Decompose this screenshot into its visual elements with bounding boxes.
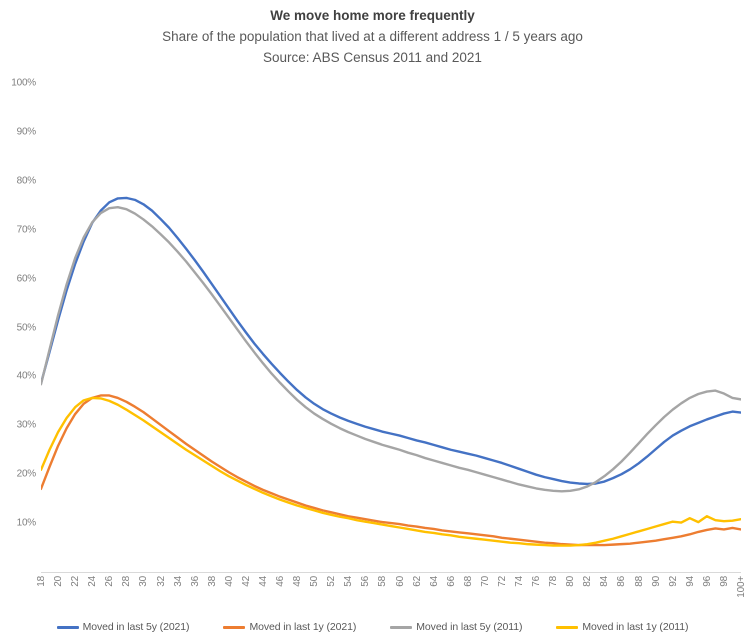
y-axis-tick: 70% xyxy=(17,224,36,235)
x-axis-tick: 64 xyxy=(429,576,440,587)
x-axis-tick: 82 xyxy=(582,576,593,587)
chart-title-block: We move home more frequently Share of th… xyxy=(0,6,745,68)
x-axis-tick: 72 xyxy=(497,576,508,587)
x-axis-tick: 96 xyxy=(702,576,713,587)
y-axis-labels: 100%90%80%70%60%50%40%30%20%10% xyxy=(0,83,36,572)
x-axis-tick: 70 xyxy=(480,576,491,587)
y-axis-tick: 10% xyxy=(17,518,36,529)
y-axis-tick: 20% xyxy=(17,469,36,480)
x-axis-tick: 52 xyxy=(326,576,337,587)
x-axis-tick: 78 xyxy=(548,576,559,587)
x-axis-tick: 60 xyxy=(395,576,406,587)
x-axis-tick: 40 xyxy=(224,576,235,587)
x-axis-tick: 26 xyxy=(104,576,115,587)
legend-label: Moved in last 1y (2021) xyxy=(249,621,356,633)
x-axis-tick: 42 xyxy=(241,576,252,587)
x-axis-tick: 32 xyxy=(156,576,167,587)
x-axis-tick: 20 xyxy=(53,576,64,587)
x-axis-tick: 88 xyxy=(634,576,645,587)
x-axis-tick: 54 xyxy=(343,576,354,587)
y-axis-tick: 30% xyxy=(17,420,36,431)
legend-item[interactable]: Moved in last 1y (2021) xyxy=(223,621,356,633)
x-axis-tick: 34 xyxy=(173,576,184,587)
y-axis-tick: 90% xyxy=(17,126,36,137)
legend-swatch-icon xyxy=(556,626,578,629)
legend-label: Moved in last 1y (2011) xyxy=(582,621,688,633)
chart-title: We move home more frequently xyxy=(0,6,745,26)
x-axis-tick: 86 xyxy=(616,576,627,587)
y-axis-tick: 80% xyxy=(17,175,36,186)
series-line xyxy=(41,207,741,491)
x-axis-tick: 94 xyxy=(685,576,696,587)
legend-swatch-icon xyxy=(223,626,245,629)
y-axis-tick: 100% xyxy=(11,78,36,89)
x-axis-tick: 62 xyxy=(412,576,423,587)
x-axis-tick: 98 xyxy=(719,576,730,587)
x-axis-tick: 74 xyxy=(514,576,525,587)
chart-subtitle: Share of the population that lived at a … xyxy=(0,26,745,47)
plot-area xyxy=(41,83,741,572)
series-line xyxy=(41,395,741,545)
chart-container: We move home more frequently Share of th… xyxy=(0,0,745,637)
chart-legend: Moved in last 5y (2021)Moved in last 1y … xyxy=(0,617,745,637)
legend-swatch-icon xyxy=(57,626,79,629)
x-axis-tick: 80 xyxy=(565,576,576,587)
x-axis-tick: 46 xyxy=(275,576,286,587)
x-axis-tick: 84 xyxy=(599,576,610,587)
x-axis-tick: 50 xyxy=(309,576,320,587)
legend-swatch-icon xyxy=(390,626,412,629)
x-axis-tick: 22 xyxy=(70,576,81,587)
legend-item[interactable]: Moved in last 5y (2021) xyxy=(57,621,190,633)
x-axis-tick: 76 xyxy=(531,576,542,587)
x-axis-tick: 38 xyxy=(207,576,218,587)
series-lines xyxy=(41,83,741,572)
x-axis-tick: 92 xyxy=(668,576,679,587)
chart-source: Source: ABS Census 2011 and 2021 xyxy=(0,47,745,68)
x-axis-line xyxy=(41,572,741,573)
series-line xyxy=(41,198,741,484)
y-axis-tick: 50% xyxy=(17,322,36,333)
x-axis-tick: 56 xyxy=(360,576,371,587)
legend-item[interactable]: Moved in last 5y (2011) xyxy=(390,621,522,633)
x-axis-tick: 18 xyxy=(36,576,47,587)
x-axis-labels: 1820222426283032343638404244464850525456… xyxy=(41,574,741,614)
legend-label: Moved in last 5y (2021) xyxy=(83,621,190,633)
x-axis-tick: 48 xyxy=(292,576,303,587)
x-axis-tick: 24 xyxy=(87,576,98,587)
x-axis-tick: 58 xyxy=(377,576,388,587)
legend-item[interactable]: Moved in last 1y (2011) xyxy=(556,621,688,633)
x-axis-tick: 100+ xyxy=(736,576,745,598)
y-axis-tick: 60% xyxy=(17,273,36,284)
x-axis-tick: 28 xyxy=(121,576,132,587)
x-axis-tick: 66 xyxy=(446,576,457,587)
x-axis-tick: 44 xyxy=(258,576,269,587)
y-axis-tick: 40% xyxy=(17,371,36,382)
x-axis-tick: 68 xyxy=(463,576,474,587)
x-axis-tick: 30 xyxy=(138,576,149,587)
x-axis-tick: 90 xyxy=(651,576,662,587)
x-axis-tick: 36 xyxy=(190,576,201,587)
legend-label: Moved in last 5y (2011) xyxy=(416,621,522,633)
